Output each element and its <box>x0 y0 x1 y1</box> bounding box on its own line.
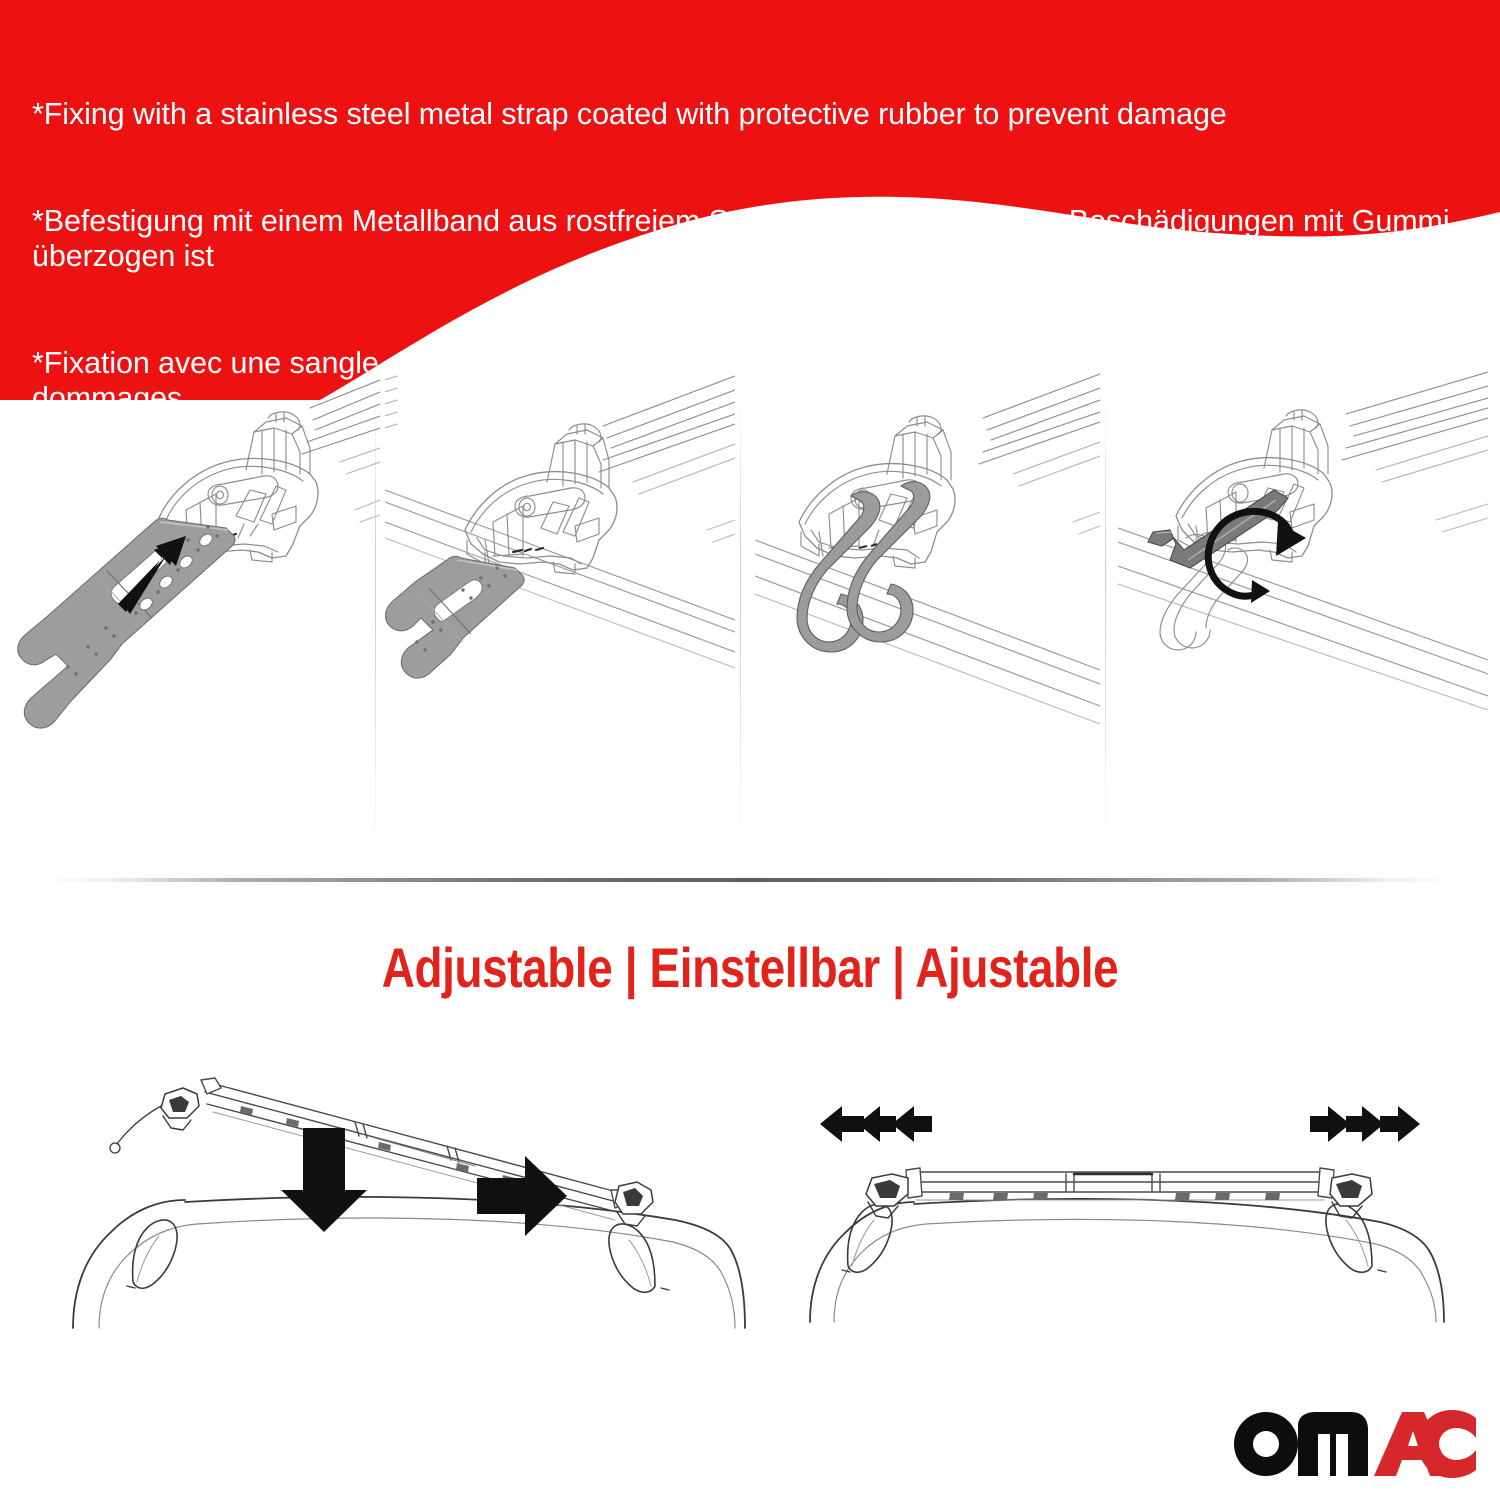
lower-down-arrow <box>281 1128 367 1232</box>
banner-line-en: *Fixing with a stainless steel metal str… <box>32 97 1452 133</box>
section-divider <box>40 878 1460 882</box>
infographic-page: *Fixing with a stainless steel metal str… <box>0 0 1500 1500</box>
adjust-width-diagram <box>780 1074 1460 1324</box>
lower-diagram-strip <box>0 1060 1500 1390</box>
adjust-left-arrows <box>820 1106 932 1142</box>
adjustable-headline: Adjustable | Einstellbar | Ajustable <box>135 935 1365 1000</box>
logo-letter-m <box>1298 1412 1368 1476</box>
adjust-right-arrows <box>1310 1106 1420 1142</box>
banner-line-fr: *Fixation avec une sangle en métal inoxy… <box>32 346 1452 417</box>
omac-logo <box>1232 1404 1476 1482</box>
logo-letter-o <box>1234 1412 1298 1476</box>
banner-line-de: *Befestigung mit einem Metallband aus ro… <box>32 204 1452 275</box>
banner-description-text: *Fixing with a stainless steel metal str… <box>32 26 1452 488</box>
install-crossbar-diagram <box>55 1060 755 1330</box>
